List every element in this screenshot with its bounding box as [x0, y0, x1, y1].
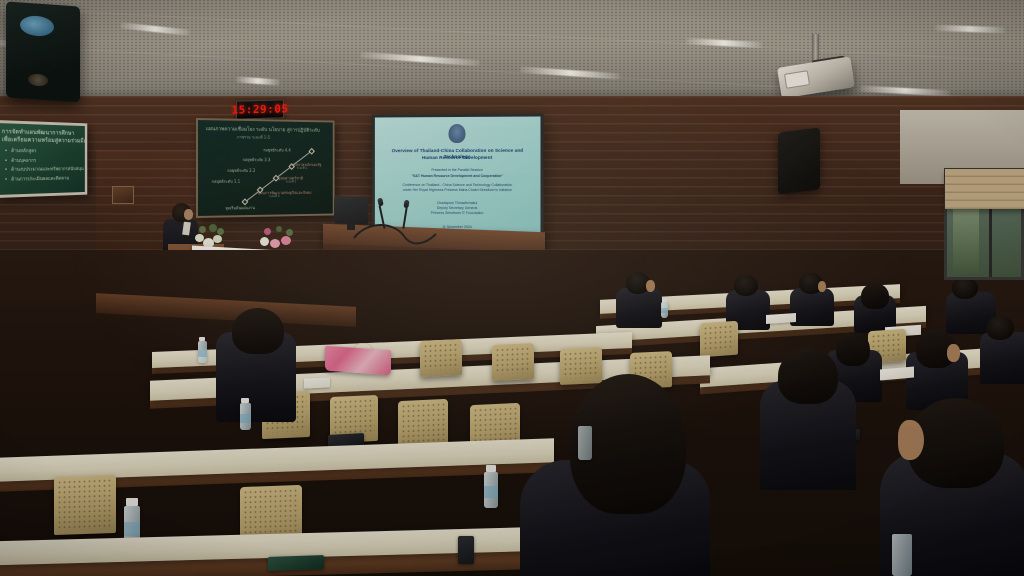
diagram-annotation-sub: ระยะที่ 2 — [286, 180, 297, 185]
presenter-face — [184, 209, 193, 220]
bottle-label — [661, 308, 668, 313]
audience-member-hair — [861, 283, 889, 309]
diagram-chalkboard: แผนภาพความเชื่อมโยง ระดับ นโยบาย สู่การป… — [196, 118, 335, 218]
clock-time-display: 15:29:05 — [232, 102, 289, 116]
diagram-node-label: กลยุทธ์ระดับ 1.1 — [212, 178, 240, 185]
diagram-annotation-sub: ระยะที่ 3 — [269, 194, 280, 199]
water-bottle — [578, 426, 592, 460]
diagram-trend-line — [198, 120, 335, 218]
bottle-label — [240, 414, 251, 423]
diagram-annotation-sub: ระยะที่ 1 — [297, 166, 307, 171]
window-foliage — [953, 203, 979, 273]
diagram-node-label: กลยุทธ์ระดับ 3.3 — [243, 156, 271, 163]
bottle-cap — [662, 299, 667, 302]
lecture-hall-photo: 15:29:05 การจัดทำแผนพัฒนาการศึกษา เพื่อเ… — [0, 0, 1024, 576]
royal-emblem-icon — [449, 124, 466, 143]
bottle-label — [484, 486, 498, 498]
slide-title-line2: Human Resource Development — [381, 155, 535, 161]
chair — [420, 339, 462, 377]
slide-theme: "S&T Human Resource Development and Coop… — [381, 174, 535, 179]
audience-member-face — [646, 280, 655, 292]
audience-member-hair — [778, 348, 838, 404]
slide-conference-line2: under Her Royal Highness Princess Maha C… — [381, 188, 535, 193]
chair — [560, 347, 602, 385]
audience-member-face — [818, 281, 826, 292]
slide-presented-label: Presented in the Parallel Session — [381, 168, 535, 173]
audience-member-head — [952, 277, 978, 299]
audience-member-hair — [232, 308, 284, 354]
audience-member-face — [898, 420, 924, 460]
diagram-node-label: กลยุทธ์ระดับ 2.2 — [227, 167, 255, 174]
pen-case — [268, 555, 324, 571]
water-bottle — [892, 534, 912, 576]
diagram-annotation: แผนการพัฒนาเศรษฐกิจและสังคม — [258, 189, 312, 196]
pink-floral-tote-bag — [325, 346, 391, 376]
chalkboard-bullet: ด้านการประเมินผลและติดตาม — [11, 174, 81, 184]
chalkboard-bullet: ด้านบุคลากร — [11, 157, 81, 166]
digital-wall-clock: 15:29:05 — [236, 99, 284, 119]
window-blind — [945, 169, 1024, 209]
audience-member-body — [616, 288, 662, 328]
bottle-label — [124, 522, 140, 536]
diagram-start-label: จุดเริ่มต้นแผนงาน — [225, 204, 255, 211]
chalkboard-bullet: ด้านหลักสูตร — [11, 147, 81, 157]
chalkboard-bullet-list: ด้านหลักสูตร ด้านบุคลากร ด้านงบประมาณและ… — [11, 147, 81, 184]
audience-member-hair — [836, 332, 870, 366]
smartphone — [458, 536, 474, 564]
audience-member-head — [986, 316, 1014, 340]
diagram-node-label: กลยุทธ์ระดับ 4.4 — [263, 147, 290, 154]
wall-decor-panel — [112, 186, 134, 204]
audience-member-face — [947, 344, 960, 362]
audience-member-head — [734, 275, 758, 296]
window — [944, 168, 1024, 280]
bottle-label — [198, 350, 207, 357]
bottle-cap — [486, 465, 496, 472]
document-papers — [304, 377, 330, 388]
chair — [492, 343, 534, 381]
chair — [700, 321, 738, 358]
chair — [54, 475, 116, 535]
bottle-cap — [199, 337, 205, 341]
chalkboard-heading-line2: เพื่อเตรียมความพร้อมสู่ความร่วมมือระหว่า… — [2, 136, 82, 145]
bottle-cap — [126, 498, 138, 506]
bottle-cap — [241, 398, 249, 403]
green-chalkboard-left: การจัดทำแผนพัฒนาการศึกษา เพื่อเตรียมความ… — [0, 120, 87, 198]
wall-speaker-right — [778, 127, 820, 194]
flower-arrangement-right — [258, 225, 296, 251]
